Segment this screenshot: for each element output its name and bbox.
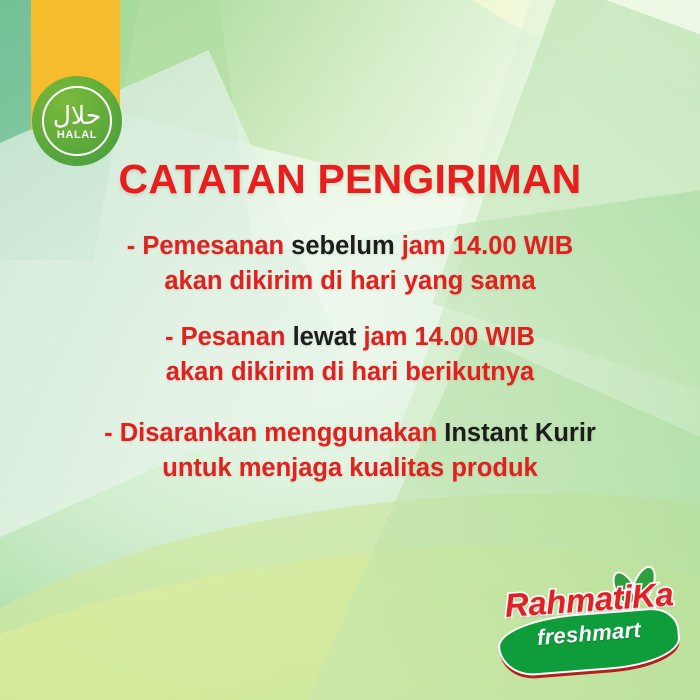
note-2-line1-pre: - Pesanan bbox=[165, 323, 293, 351]
note-2-highlight: lewat bbox=[293, 323, 357, 351]
note-item-1: - Pemesanan sebelum jam 14.00 WIB akan d… bbox=[0, 229, 700, 299]
brand-logo: RahmatiKa freshmart bbox=[498, 563, 680, 675]
promo-poster: حلال HALAL CATATAN PENGIRIMAN - Pemesana… bbox=[0, 0, 700, 700]
note-3-line2: untuk menjaga kualitas produk bbox=[162, 454, 538, 482]
page-title: CATATAN PENGIRIMAN bbox=[0, 156, 700, 203]
note-2-line2: akan dikirim di hari berikutnya bbox=[166, 358, 534, 386]
note-3-line1-pre: - Disarankan menggunakan bbox=[104, 419, 444, 447]
note-1-line2: akan dikirim di hari yang sama bbox=[164, 267, 535, 295]
note-1-line1-pre: - Pemesanan bbox=[127, 232, 291, 260]
note-item-2: - Pesanan lewat jam 14.00 WIB akan dikir… bbox=[0, 320, 700, 390]
note-item-3: - Disarankan menggunakan Instant Kurir u… bbox=[0, 416, 700, 486]
note-1-highlight: sebelum bbox=[291, 232, 394, 260]
note-1-line1-post: jam 14.00 WIB bbox=[395, 232, 574, 260]
note-3-highlight: Instant Kurir bbox=[444, 419, 596, 447]
note-2-line1-post: jam 14.00 WIB bbox=[356, 323, 535, 351]
